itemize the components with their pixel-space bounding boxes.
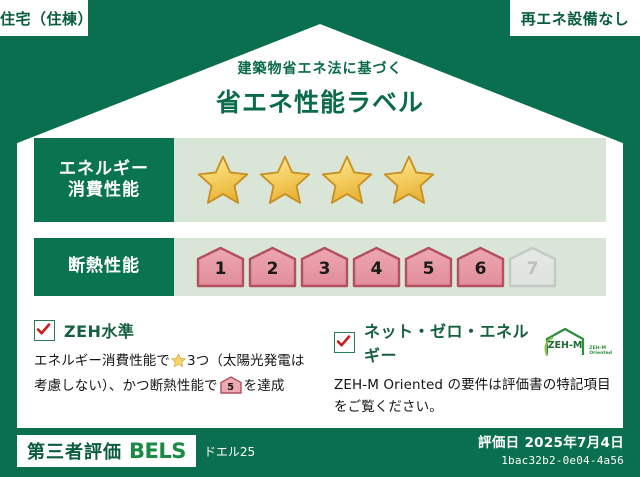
evaluation-date-value: 2025年7月4日 xyxy=(524,435,624,451)
insulation-performance-row: 断熱性能 1234567 xyxy=(34,238,606,296)
grade-badge: 5 xyxy=(404,246,453,288)
grade-badge-group: 1234567 xyxy=(196,246,557,288)
star-icon xyxy=(196,154,250,206)
insulation-label-line1: 断熱性能 xyxy=(68,256,140,277)
svg-text:ZEH-M: ZEH-M xyxy=(548,340,583,351)
criterion-zeh-title: ZEH水準 xyxy=(64,318,134,342)
criteria-section: ZEH水準 エネルギー消費性能で3つ（太陽光発電は考慮しない）、かつ断熱性能で5… xyxy=(34,318,612,419)
inline-grade-badge: 5 xyxy=(220,376,242,394)
building-type-tag: 住宅（住棟） xyxy=(0,0,88,36)
energy-label-line1: エネルギー xyxy=(59,159,149,180)
grade-number: 4 xyxy=(352,259,401,279)
criterion-nze-body: ZEH-M Oriented の要件は評価書の特記項目をご覧ください。 xyxy=(334,375,612,419)
grade-badge: 3 xyxy=(300,246,349,288)
criterion-zeh: ZEH水準 エネルギー消費性能で3つ（太陽光発電は考慮しない）、かつ断熱性能で5… xyxy=(34,318,312,419)
grade-number: 3 xyxy=(300,259,349,279)
bels-japanese-label: 第三者評価 xyxy=(27,438,122,464)
energy-performance-label: 住宅（住棟） 再エネ設備なし 建築物省エネ法に基づく 省エネ性能ラベル エネルギ… xyxy=(0,0,640,477)
criterion-zeh-header: ZEH水準 xyxy=(34,318,312,342)
criterion-nze-title: ネット・ゼロ・エネルギー xyxy=(364,318,530,366)
criterion-nze: ネット・ゼロ・エネルギー ZEH-M ZEH-M Oriented ZEH-M … xyxy=(334,318,612,419)
checkbox-checked-icon[interactable] xyxy=(34,320,55,341)
energy-performance-label-box: エネルギー 消費性能 xyxy=(34,138,174,222)
title-subtitle: 建築物省エネ法に基づく xyxy=(0,58,640,78)
page-title: 省エネ性能ラベル xyxy=(0,83,640,119)
footer-bels-block: 第三者評価 BELS ドエル25 xyxy=(17,435,255,467)
insulation-performance-label-box: 断熱性能 xyxy=(34,238,174,296)
grade-number: 2 xyxy=(248,259,297,279)
grade-number: 1 xyxy=(196,259,245,279)
criterion-zeh-body: エネルギー消費性能で3つ（太陽光発電は考慮しない）、かつ断熱性能で5を達成 xyxy=(34,351,312,398)
energy-label-line2: 消費性能 xyxy=(68,180,140,201)
zeh-logo-sub-line2: Oriented xyxy=(589,352,612,357)
bels-property-name: ドエル25 xyxy=(204,443,255,460)
grade-number: 5 xyxy=(404,259,453,279)
label-title-block: 建築物省エネ法に基づく 省エネ性能ラベル xyxy=(0,58,640,119)
renewable-energy-tag: 再エネ設備なし xyxy=(510,0,640,36)
zeh-m-oriented-logo-icon: ZEH-M ZEH-M Oriented xyxy=(543,327,612,357)
grade-number: 7 xyxy=(508,259,557,279)
grade-badge: 4 xyxy=(352,246,401,288)
grade-badge: 1 xyxy=(196,246,245,288)
grade-number: 6 xyxy=(456,259,505,279)
star-icon xyxy=(258,154,312,206)
insulation-grade-scale: 1234567 xyxy=(174,238,606,296)
evaluation-id: 1bac32b2-0e04-4a56 xyxy=(478,454,624,467)
inline-grade-number: 5 xyxy=(220,380,242,396)
criterion-zeh-text-1: エネルギー消費性能で xyxy=(34,353,170,369)
evaluation-date-label: 評価日 xyxy=(478,435,519,451)
energy-star-rating xyxy=(174,138,606,222)
star-icon xyxy=(382,154,436,206)
footer-evaluation-block: 評価日 2025年7月4日 1bac32b2-0e04-4a56 xyxy=(478,431,624,467)
energy-performance-row: エネルギー 消費性能 xyxy=(34,138,606,222)
star-icon xyxy=(320,154,374,206)
evaluation-date: 評価日 2025年7月4日 xyxy=(478,431,624,451)
bels-logo-text: BELS xyxy=(129,439,186,463)
grade-badge: 6 xyxy=(456,246,505,288)
bels-badge: 第三者評価 BELS xyxy=(17,435,196,467)
grade-badge: 7 xyxy=(508,246,557,288)
grade-badge: 2 xyxy=(248,246,297,288)
checkbox-checked-icon[interactable] xyxy=(334,332,355,353)
criterion-zeh-text-3: を達成 xyxy=(244,378,285,394)
criterion-nze-header: ネット・ゼロ・エネルギー ZEH-M ZEH-M Oriented xyxy=(334,318,612,366)
star-rating-group xyxy=(196,154,436,206)
star-icon xyxy=(171,356,186,372)
